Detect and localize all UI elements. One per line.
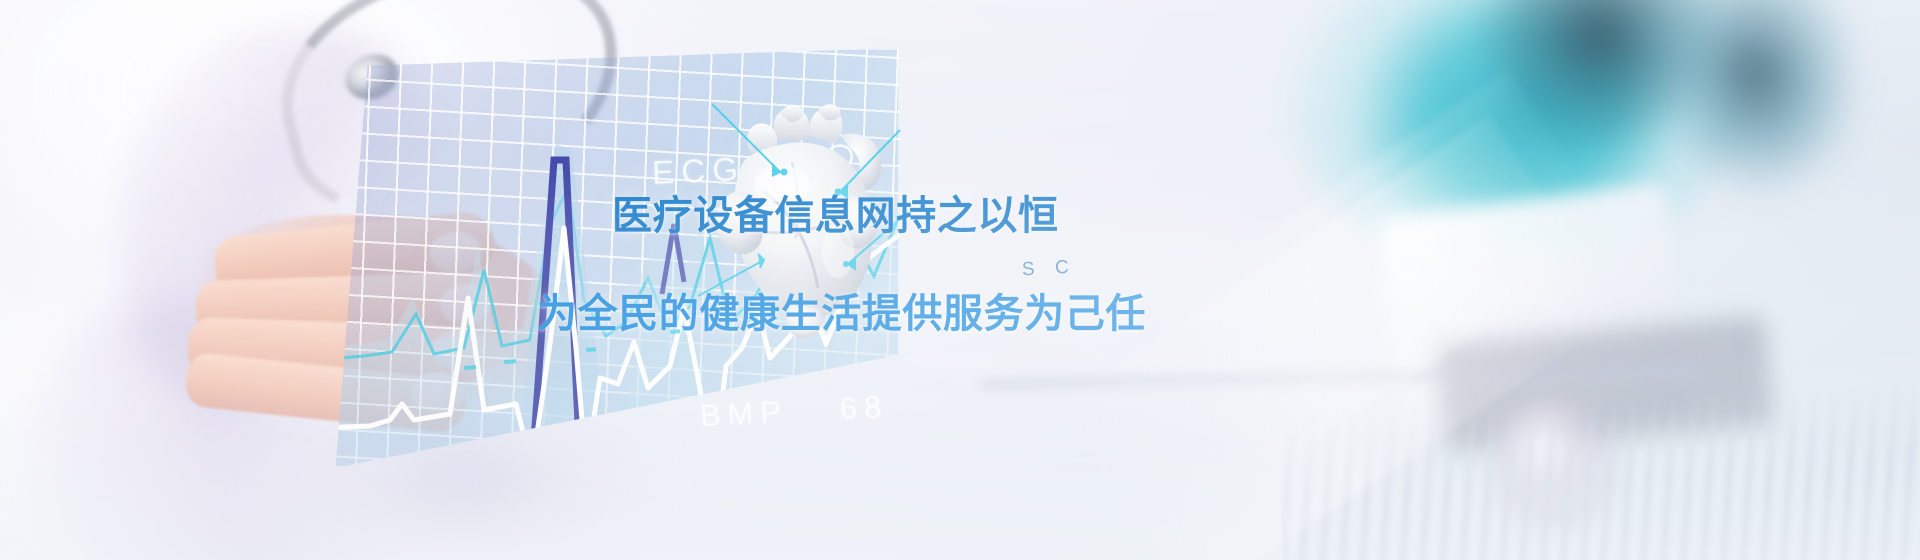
bmp-label: BMP xyxy=(699,394,788,435)
hero-banner: ECG BMP 68 S C xyxy=(0,0,1920,560)
headline-block: 医疗设备信息网持之以恒 为全民的健康生活提供服务为己任 xyxy=(600,196,1380,334)
bmp-value: 68 xyxy=(839,389,889,427)
headline-line-1: 医疗设备信息网持之以恒 xyxy=(612,196,1380,236)
headline-line-2: 为全民的健康生活提供服务为己任 xyxy=(537,294,1380,334)
